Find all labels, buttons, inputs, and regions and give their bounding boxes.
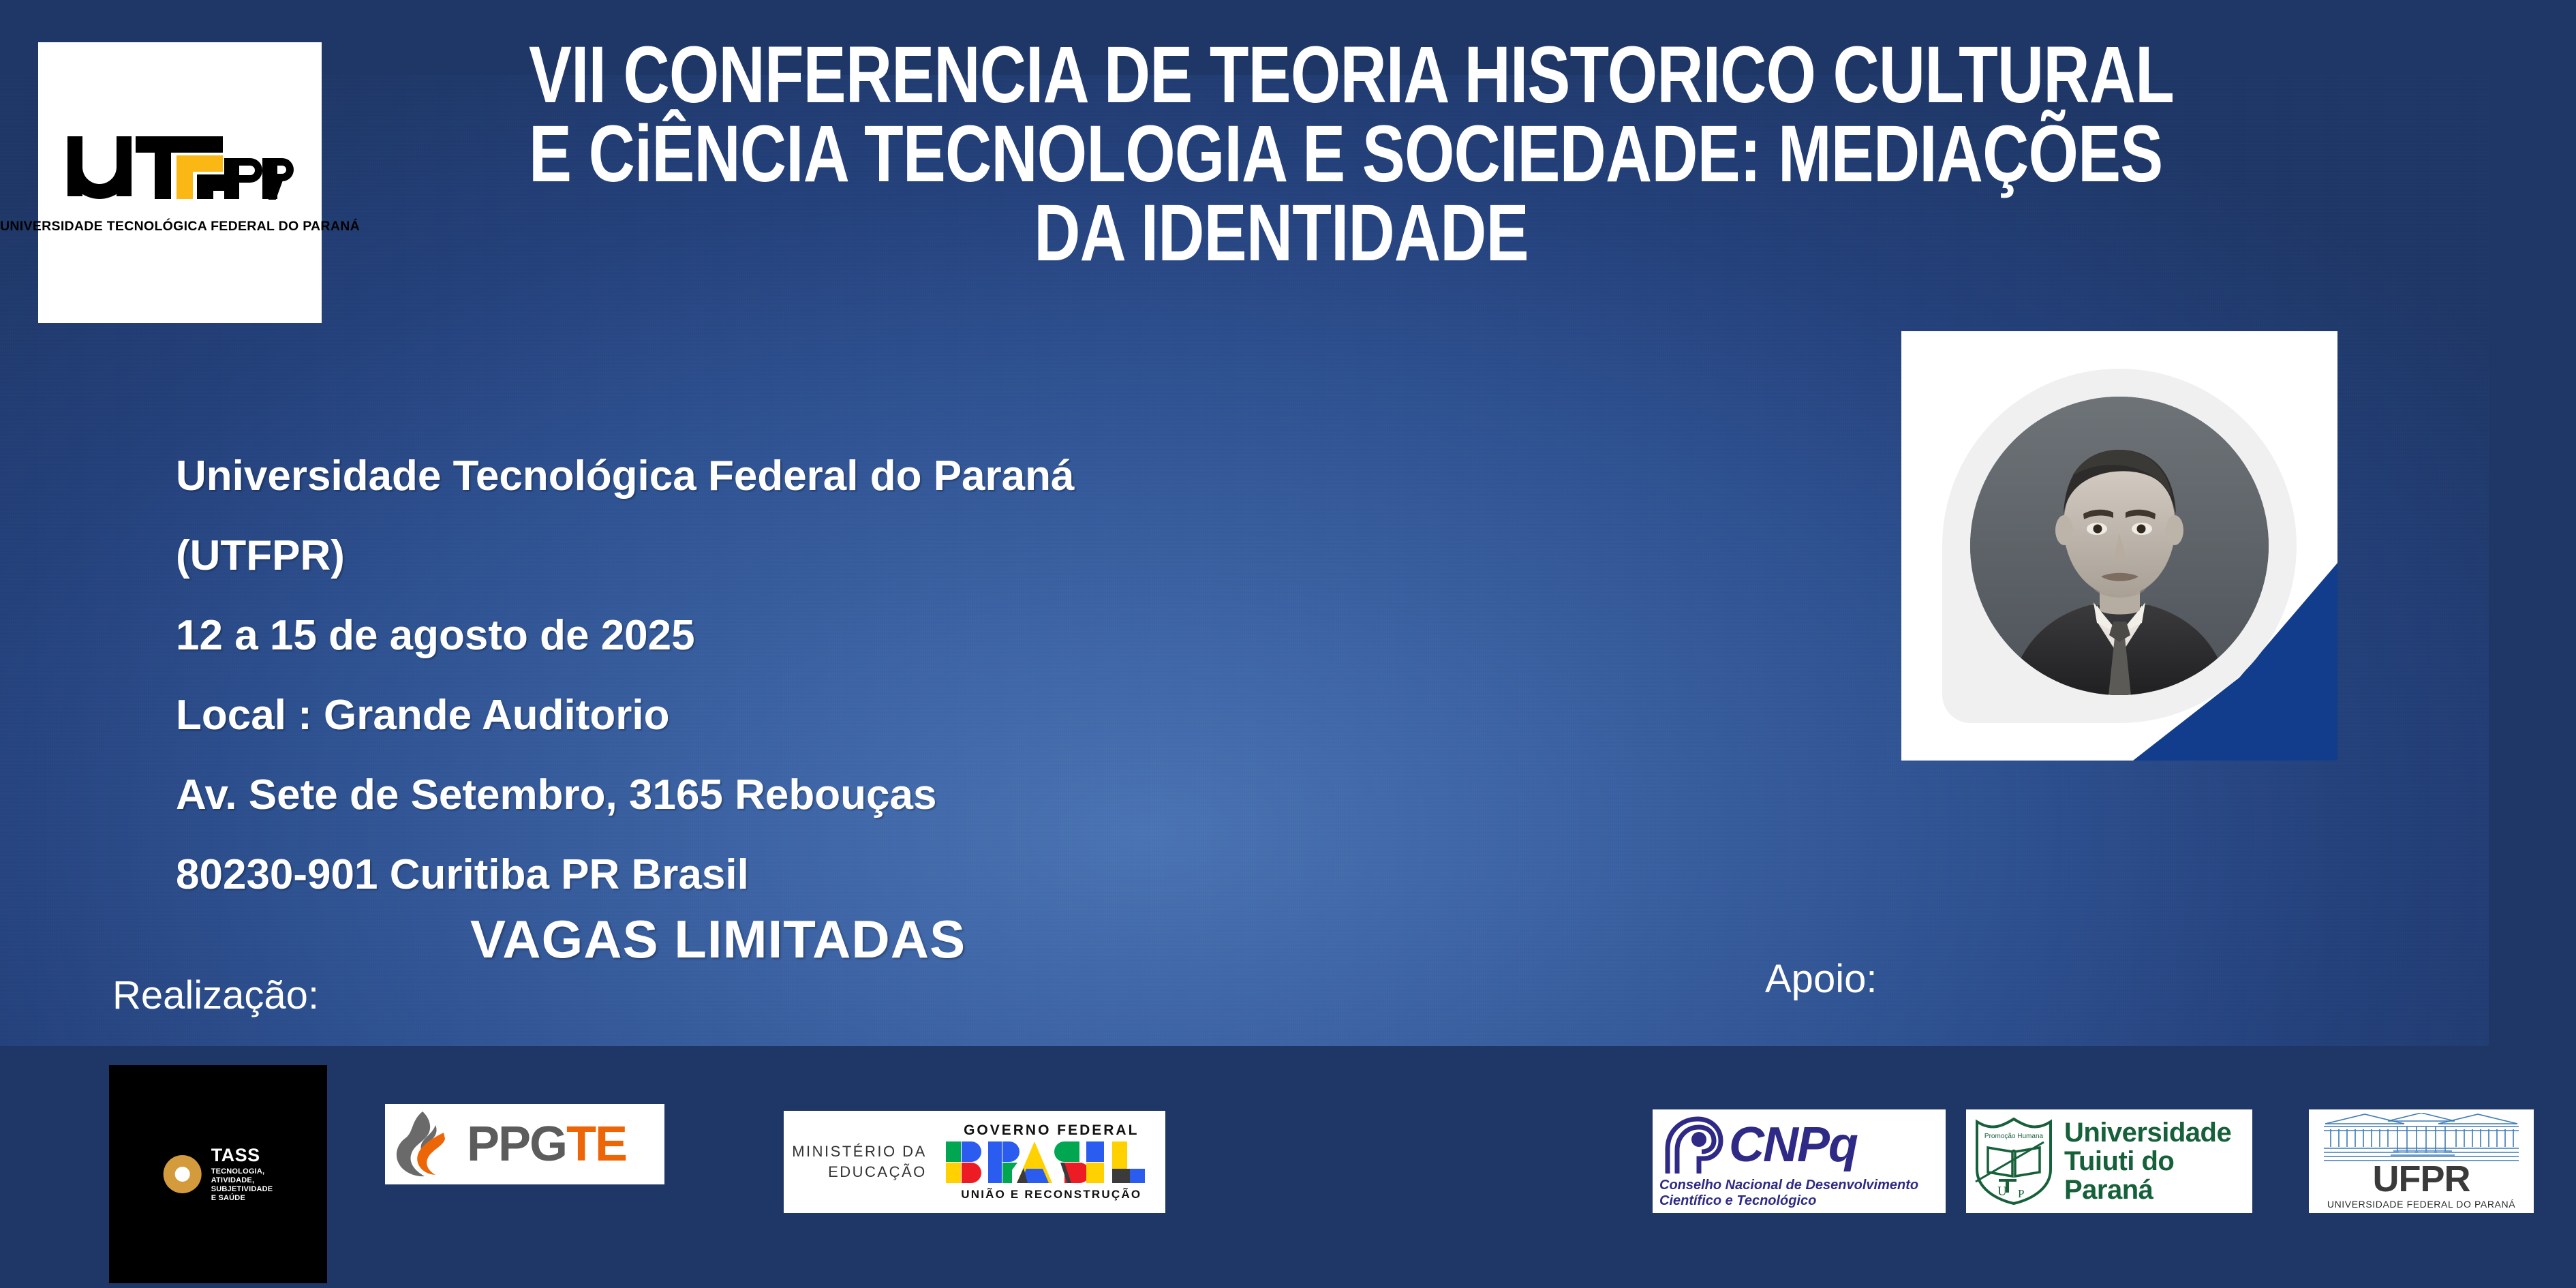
svg-text:Promoção Humana: Promoção Humana [1984, 1133, 2044, 1140]
logo-universidade-tuiuti: Promoção Humana U P Universidade Tuiuti … [1966, 1109, 2252, 1213]
ppgte-word-gray: PPG [467, 1117, 566, 1171]
ppgte-wordmark: PPGTE [467, 1120, 626, 1169]
cnpq-wordmark: CNPq [1729, 1121, 1857, 1169]
utp-wordmark: Universidade Tuiuti do Paraná [2064, 1118, 2231, 1204]
svg-text:P: P [2018, 1187, 2024, 1200]
ufpr-building-icon [2322, 1113, 2520, 1162]
ppgte-flame-icon [390, 1110, 465, 1178]
ppgte-word-orange: TE [566, 1117, 626, 1171]
cnpq-head-icon [1659, 1114, 1725, 1176]
portrait-card [1901, 331, 2337, 761]
cnpq-subtitle-line1: Conselho Nacional de Desenvolvimento [1659, 1178, 1939, 1193]
mec-ministry-text: MINISTÉRIO DA EDUCAÇÃO [792, 1141, 927, 1182]
tass-subtitle-line1: TECNOLOGIA, ATIVIDADE, [211, 1167, 273, 1185]
poster-title: VII CONFERENCIA DE TEORIA HISTORICO CULT… [529, 35, 2034, 273]
utp-name-line2: Tuiuti do [2064, 1147, 2231, 1176]
detail-institution: Universidade Tecnológica Federal do Para… [176, 436, 1471, 516]
utp-shield-icon: Promoção Humana U P [1973, 1116, 2055, 1206]
realizacao-label: Realização: [112, 976, 319, 1015]
brasil-wordmark-icon [946, 1141, 1157, 1184]
tass-subtitle-line2: SUBJETIVIDADE E SAÚDE [211, 1185, 273, 1203]
tass-donut-icon [164, 1155, 202, 1193]
utp-name-line3: Paraná [2064, 1176, 2231, 1204]
svg-text:U: U [1997, 1184, 2007, 1199]
detail-dates: 12 a 15 de agosto de 2025 [176, 596, 1471, 675]
logo-cnpq: CNPq Conselho Nacional de Desenvolviment… [1653, 1109, 1946, 1213]
conference-poster: UNIVERSIDADE TECNOLÓGICA FEDERAL DO PARA… [0, 0, 2576, 1288]
utfpr-logo-card: UNIVERSIDADE TECNOLÓGICA FEDERAL DO PARA… [38, 42, 322, 323]
uniao-reconstrucao-label: UNIÃO E RECONSTRUÇÃO [961, 1188, 1141, 1201]
detail-postal-city: 80230-901 Curitiba PR Brasil [176, 835, 1471, 915]
title-line-1: VII CONFERENCIA DE TEORIA HISTORICO CULT… [529, 35, 2034, 114]
title-line-3: DA IDENTIDADE [529, 194, 2034, 273]
apoio-label: Apoio: [1765, 960, 1877, 999]
mec-ministry-line2: EDUCAÇÃO [792, 1162, 927, 1182]
event-details: Universidade Tecnológica Federal do Para… [176, 436, 1471, 915]
ufpr-subtitle: UNIVERSIDADE FEDERAL DO PARANÁ [2327, 1199, 2515, 1210]
logo-ppgte: PPGTE [385, 1104, 664, 1184]
title-line-2: E CiÊNCIA TECNOLOGIA E SOCIEDADE: MEDIAÇ… [529, 114, 2034, 194]
ufpr-acronym: UFPR [2373, 1161, 2470, 1197]
logo-ufpr: UFPR UNIVERSIDADE FEDERAL DO PARANÁ [2309, 1109, 2534, 1213]
logo-tass: TASS TECNOLOGIA, ATIVIDADE, SUBJETIVIDAD… [109, 1065, 327, 1283]
tass-acronym: TASS [211, 1146, 273, 1165]
cnpq-subtitle-line2: Científico e Tecnológico [1659, 1193, 1939, 1209]
logo-ministerio-educacao: MINISTÉRIO DA EDUCAÇÃO GOVERNO FEDERAL [784, 1111, 1165, 1213]
limited-seats-notice: VAGAS LIMITADAS [470, 908, 966, 970]
detail-address: Av. Sete de Setembro, 3165 Rebouças [176, 755, 1471, 835]
governo-federal-label: GOVERNO FEDERAL [964, 1122, 1139, 1139]
detail-institution-acronym: (UTFPR) [176, 516, 1471, 596]
utfpr-logo-subtitle: UNIVERSIDADE TECNOLÓGICA FEDERAL DO PARA… [0, 219, 360, 234]
mec-ministry-line1: MINISTÉRIO DA [792, 1141, 927, 1162]
utp-name-line1: Universidade [2064, 1118, 2231, 1147]
detail-venue: Local : Grande Auditorio [176, 675, 1471, 755]
portrait-photo [1970, 397, 2269, 695]
utfpr-logo-icon [67, 131, 292, 215]
